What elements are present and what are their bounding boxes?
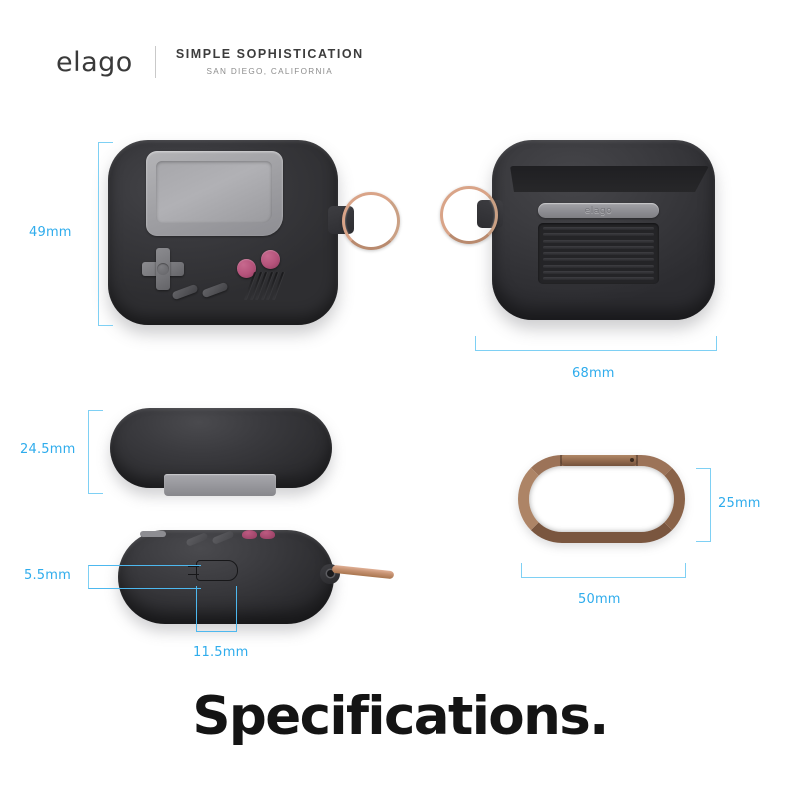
brand-location: SAN DIEGO, CALIFORNIA [176, 66, 364, 77]
brand-divider [155, 46, 156, 78]
keyring-strap-bottom [332, 565, 394, 579]
button-b-edge [242, 530, 257, 539]
dimension-label-68mm: 68mm [572, 366, 615, 381]
keyring-front [342, 192, 400, 250]
dimension-bracket-50mm [521, 563, 686, 578]
dimension-label-5-5mm: 5.5mm [24, 568, 71, 583]
lid-seam-band [510, 166, 709, 192]
front-view [108, 140, 338, 325]
button-start [201, 282, 228, 298]
rib-line [543, 271, 654, 274]
dimension-leader-left-11-5mm [196, 586, 197, 632]
charging-port-cutout [196, 560, 238, 581]
page-title: Specifications. [0, 686, 800, 747]
dimension-baseline-11-5mm [196, 631, 237, 632]
dimension-leader-right-11-5mm [236, 586, 237, 632]
elago-emboss-label: elago [538, 203, 659, 218]
rib-line [543, 252, 654, 255]
spec-sheet-page: elago SIMPLE SOPHISTICATION SAN DIEGO, C… [0, 0, 800, 800]
carabiner-seam-right [636, 455, 638, 466]
rib-line [543, 265, 654, 268]
rib-line [543, 240, 654, 243]
dpad-control [142, 248, 184, 290]
brand-lockup: elago SIMPLE SOPHISTICATION SAN DIEGO, C… [56, 42, 364, 82]
dimension-bracket-24-5mm [88, 410, 103, 494]
screen-display [156, 161, 272, 223]
back-view: elago [492, 140, 715, 320]
carabiner-seam-left [560, 455, 562, 466]
brand-tagline: SIMPLE SOPHISTICATION [176, 47, 364, 63]
dimension-bracket-25mm [696, 468, 711, 542]
rib-texture-panel [538, 223, 659, 284]
rib-line [543, 246, 654, 249]
keyring-back [440, 186, 498, 244]
button-select-edge [185, 532, 208, 547]
button-start-edge [211, 530, 234, 545]
dpad-center-dot [157, 263, 169, 275]
dimension-label-11-5mm: 11.5mm [193, 645, 248, 660]
dimension-label-49mm: 49mm [29, 225, 72, 240]
button-a-edge [260, 530, 275, 539]
rib-line [543, 258, 654, 261]
dimension-bracket-5-5mm [88, 565, 201, 589]
dimension-label-50mm: 50mm [578, 592, 621, 607]
case-body-back: elago [492, 140, 715, 320]
rib-line [543, 227, 654, 230]
dimension-bracket-49mm [98, 142, 113, 326]
rib-line [543, 233, 654, 236]
dimension-bracket-68mm [475, 336, 717, 351]
carabiner-gate [560, 455, 638, 466]
hinge-tab-bottom [140, 531, 166, 537]
top-view [110, 408, 332, 488]
hinge-tab-top [164, 474, 276, 496]
carabiner-ring [518, 455, 685, 543]
carabiner-pin [630, 458, 634, 462]
dimension-label-25mm: 25mm [718, 496, 761, 511]
speaker-grille [244, 272, 294, 300]
dimension-label-24-5mm: 24.5mm [20, 442, 75, 457]
brand-tagline-block: SIMPLE SOPHISTICATION SAN DIEGO, CALIFOR… [176, 47, 364, 77]
screen-bezel [146, 151, 283, 236]
elago-emboss-text: elago [585, 206, 613, 216]
carabiner-view [518, 455, 685, 543]
button-a [261, 250, 280, 269]
rib-line [543, 277, 654, 280]
case-body-front [108, 140, 338, 325]
elago-logo: elago [56, 49, 133, 76]
